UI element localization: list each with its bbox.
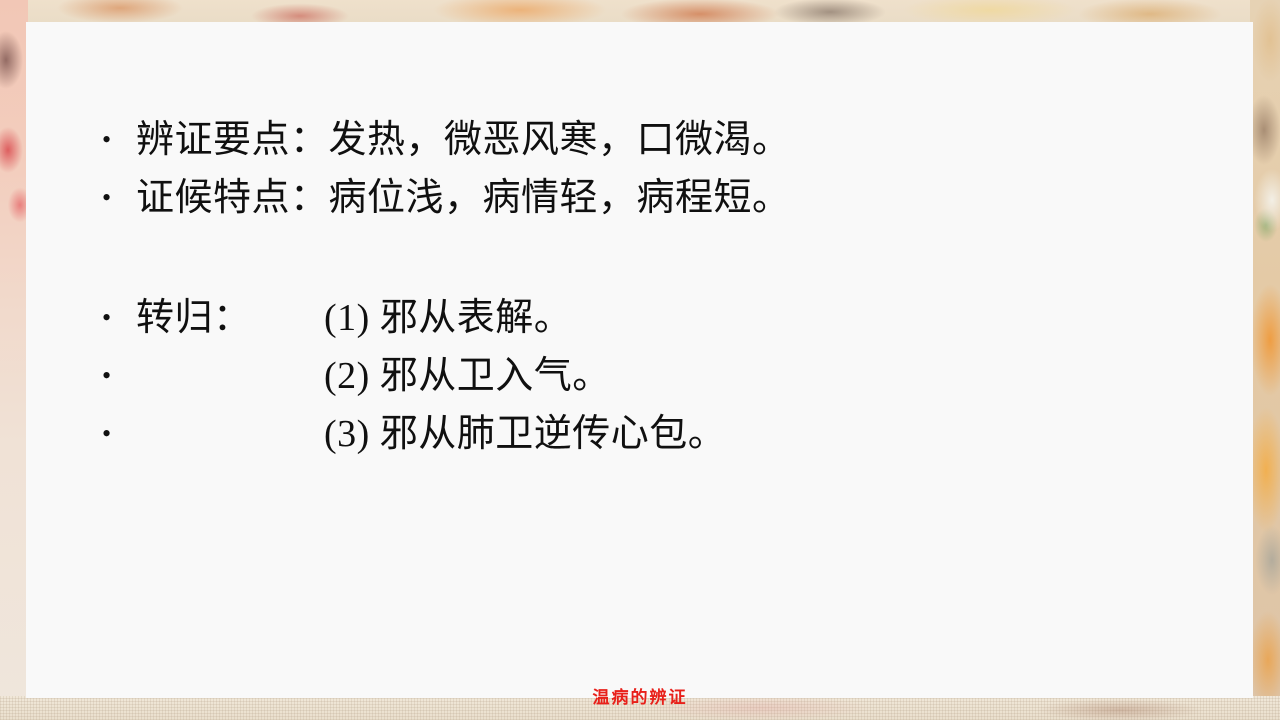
bullet-lead-label: 转归： <box>136 292 324 346</box>
bullet-sub-item: (2) 邪从卫入气。 <box>324 350 611 404</box>
slide-canvas: •辨证要点：发热，微恶风寒，口微渴。•证候特点：病位浅，病情轻，病程短。•转归：… <box>0 0 1280 720</box>
bullet-row: •(2) 邪从卫入气。 <box>102 350 1182 408</box>
bullet-marker-icon: • <box>102 185 136 211</box>
bullet-marker-icon: • <box>102 421 136 447</box>
bullet-marker-icon: • <box>102 305 136 331</box>
bullet-list: •辨证要点：发热，微恶风寒，口微渴。•证候特点：病位浅，病情轻，病程短。•转归：… <box>102 114 1182 466</box>
content-panel: •辨证要点：发热，微恶风寒，口微渴。•证候特点：病位浅，病情轻，病程短。•转归：… <box>26 22 1253 698</box>
right-border-food-image <box>1250 0 1280 720</box>
bullet-row: •(3) 邪从肺卫逆传心包。 <box>102 408 1182 466</box>
bullet-sub-item: (3) 邪从肺卫逆传心包。 <box>324 408 726 462</box>
bullet-marker-icon: • <box>102 363 136 389</box>
bullet-row: •证候特点：病位浅，病情轻，病程短。 <box>102 172 1182 230</box>
bullet-marker-icon: • <box>102 127 136 153</box>
left-border-plum-blossom-image <box>0 0 28 720</box>
bullet-text: (3) 邪从肺卫逆传心包。 <box>136 408 1182 462</box>
bullet-sub-item: (1) 邪从表解。 <box>324 292 572 346</box>
bullet-text: 辨证要点：发热，微恶风寒，口微渴。 <box>136 114 1182 168</box>
bullet-text: 证候特点：病位浅，病情轻，病程短。 <box>136 172 1182 226</box>
bullet-text: 转归：(1) 邪从表解。 <box>136 292 1182 346</box>
footer-caption: 温病的辨证 <box>0 683 1280 708</box>
bullet-row: •转归：(1) 邪从表解。 <box>102 292 1182 350</box>
bullet-text: (2) 邪从卫入气。 <box>136 350 1182 404</box>
bullet-row: •辨证要点：发热，微恶风寒，口微渴。 <box>102 114 1182 172</box>
